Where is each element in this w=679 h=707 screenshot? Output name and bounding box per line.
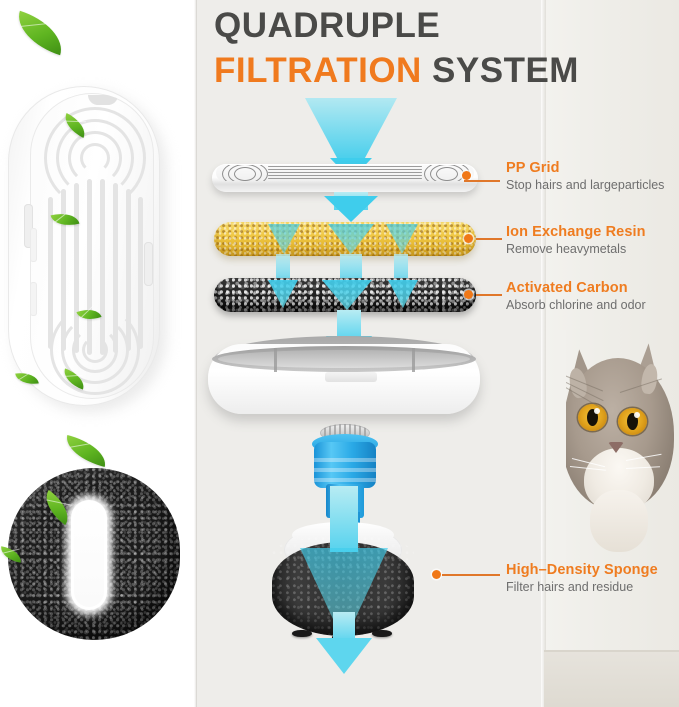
callout-dot-ion-exchange-resin <box>464 234 473 243</box>
callout-subtitle: Absorb chlorine and odor <box>506 298 646 312</box>
cartridge-top-notch <box>88 95 118 105</box>
water-flow-segment <box>394 254 408 280</box>
background-seam-left <box>194 0 197 707</box>
cat-photo <box>556 330 678 562</box>
cartridge-vent <box>30 282 37 316</box>
background-floor-line <box>544 650 679 652</box>
page-title: QUADRUPLE FILTRATION SYSTEM <box>214 4 664 94</box>
pump-cap-ring <box>314 478 376 482</box>
grille-slat <box>100 179 105 355</box>
callout-subtitle: Stop hairs and largeparticles <box>506 178 664 192</box>
callout-leader-pp-grid <box>464 180 500 182</box>
grille-slat <box>87 179 92 355</box>
pump-cap-ring <box>314 458 376 462</box>
background-seam-right <box>541 0 546 707</box>
callout-subtitle: Filter hairs and residue <box>506 580 658 594</box>
cat-wall-occluder <box>556 330 566 562</box>
title-system-word: SYSTEM <box>422 51 579 90</box>
pp-grid-slat <box>268 178 422 179</box>
grille-slat <box>48 197 53 349</box>
pp-grid-arc <box>436 167 458 181</box>
cat-eye-right <box>618 408 647 435</box>
title-filtration-word: FILTRATION <box>214 51 422 90</box>
tray-rim-inner <box>218 350 470 368</box>
callout-dot-activated-carbon <box>464 290 473 299</box>
callout-leader-ion-exchange-resin <box>476 238 502 240</box>
pp-grid-slat <box>268 175 422 176</box>
title-line-2: FILTRATION SYSTEM <box>214 48 664 94</box>
pp-grid-arc <box>234 167 256 181</box>
water-flow-segment <box>276 254 290 280</box>
callout-title: High–Density Sponge <box>506 562 658 578</box>
cartridge-side-tab <box>144 242 153 286</box>
cartridge-grille-face <box>30 93 154 399</box>
cartridge-vent <box>30 228 37 262</box>
callout-ion-exchange-resin: Ion Exchange Resin Remove heavymetals <box>506 224 646 256</box>
callout-dot-high-density-sponge <box>432 570 441 579</box>
pp-grid-slat <box>268 169 422 170</box>
grid-filter-cartridge <box>8 86 173 416</box>
pp-grid-slat <box>268 172 422 173</box>
cat-eye-left <box>578 404 607 431</box>
sponge-ring <box>8 468 183 644</box>
grille-slat <box>113 183 118 353</box>
title-line-1: QUADRUPLE <box>214 4 664 48</box>
tray-rib <box>412 348 415 372</box>
tray-rib <box>274 348 277 372</box>
pump-foot <box>292 630 312 637</box>
callout-title: PP Grid <box>506 160 664 176</box>
pump-cap-ring <box>314 468 376 472</box>
callout-title: Activated Carbon <box>506 280 646 296</box>
callout-title: Ion Exchange Resin <box>506 224 646 240</box>
grille-slat <box>74 183 79 353</box>
tray-center-sill <box>325 372 377 382</box>
callout-leader-activated-carbon <box>476 294 502 296</box>
filter-housing-tray <box>208 336 480 420</box>
water-flow-segment <box>340 254 362 280</box>
cat-chin <box>590 490 648 552</box>
sponge-ring-hole-inner <box>74 503 104 607</box>
grille-arc <box>80 143 110 173</box>
pp-grid-top-face <box>216 165 474 181</box>
pp-grid-slat <box>268 166 422 167</box>
grille-slat <box>138 197 143 349</box>
water-flow-pump-inlet <box>330 486 358 552</box>
infographic-canvas: QUADRUPLE FILTRATION SYSTEM <box>0 0 679 707</box>
callout-subtitle: Remove heavymetals <box>506 242 646 256</box>
callout-leader-high-density-sponge <box>442 574 500 576</box>
pump-foot <box>372 630 392 637</box>
grille-slat <box>126 189 131 351</box>
callout-high-density-sponge: High–Density Sponge Filter hairs and res… <box>506 562 658 594</box>
callout-pp-grid: PP Grid Stop hairs and largeparticles <box>506 160 664 192</box>
cat-eye-glint-right <box>634 412 640 418</box>
cat-eye-glint-left <box>594 408 600 414</box>
callout-dot-pp-grid <box>462 171 471 180</box>
callout-activated-carbon: Activated Carbon Absorb chlorine and odo… <box>506 280 646 312</box>
pp-grid-layer <box>212 160 478 196</box>
background-floor <box>544 652 679 707</box>
